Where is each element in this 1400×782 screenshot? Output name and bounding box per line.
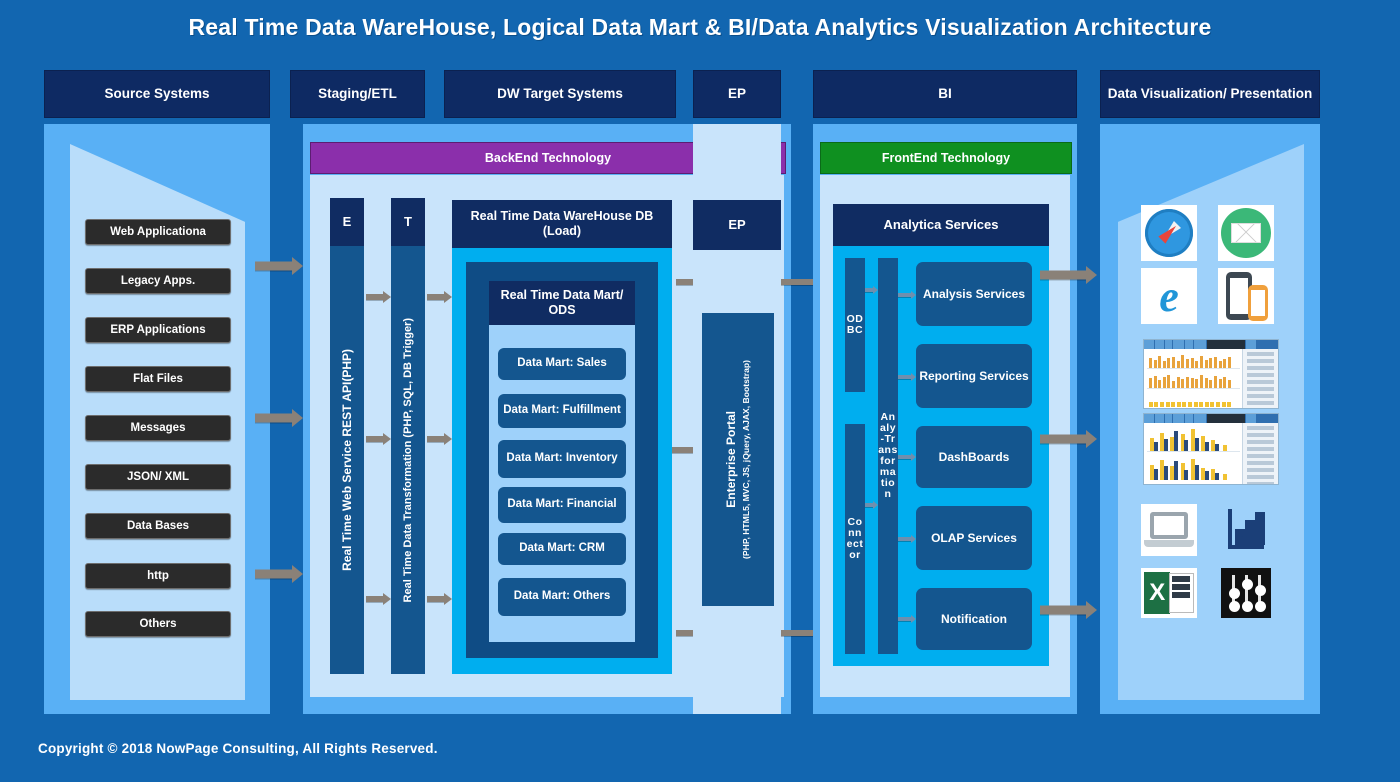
column-header-dw-target-systems: DW Target Systems xyxy=(444,70,676,118)
bi-service-label: Analysis Services xyxy=(923,287,1025,301)
column-header-label: Source Systems xyxy=(104,86,209,102)
source-item-legacy-apps[interactable]: Legacy Apps. xyxy=(85,268,231,294)
arrow-source-to-staging-1 xyxy=(255,257,303,275)
bi-service-notification[interactable]: Notification xyxy=(916,588,1032,650)
source-item-label: JSON/ XML xyxy=(127,471,189,483)
arrow-transform-to-analysis xyxy=(898,290,916,300)
transform-service-block: Real Time Data Transformation (PHP, SQL,… xyxy=(391,246,425,674)
source-item-label: Others xyxy=(139,618,176,630)
column-header-bi: BI xyxy=(813,70,1077,118)
internet-explorer-icon[interactable]: e xyxy=(1141,268,1197,324)
dashboard-report-icon[interactable] xyxy=(1143,339,1279,409)
bi-service-olap-services[interactable]: OLAP Services xyxy=(916,506,1032,570)
source-item-messages[interactable]: Messages xyxy=(85,415,231,441)
dw-header: Real Time Data WareHouse DB (Load) xyxy=(452,200,672,248)
data-mart-ods-header: Real Time Data Mart/ ODS xyxy=(489,281,635,325)
equalizer-icon[interactable] xyxy=(1221,568,1271,618)
column-header-source-systems: Source Systems xyxy=(44,70,270,118)
source-item-data-bases[interactable]: Data Bases xyxy=(85,513,231,539)
data-mart-sales[interactable]: Data Mart: Sales xyxy=(498,348,626,380)
diagram-canvas: Real Time Data WareHouse, Logical Data M… xyxy=(0,0,1400,782)
analytics-services-header: Analytica Services xyxy=(833,204,1049,246)
data-mart-fulfillment[interactable]: Data Mart: Fulfillment xyxy=(498,394,626,428)
ep-header-label: EP xyxy=(728,217,745,233)
arrow-transform-to-reporting xyxy=(898,372,916,382)
extract-service-label: Real Time Web Service REST API(PHP) xyxy=(340,349,354,571)
source-item-label: Web Applicationa xyxy=(110,226,206,238)
transform-code-header: T xyxy=(391,198,425,246)
data-mart-label: Data Mart: Sales xyxy=(517,357,606,371)
data-mart-others[interactable]: Data Mart: Others xyxy=(498,578,626,616)
odbc-connector-block: ODBC xyxy=(845,258,865,392)
source-item-flat-files[interactable]: Flat Files xyxy=(85,366,231,392)
extract-code-header: E xyxy=(330,198,364,246)
enterprise-portal-subtitle: (PHP, HTML5, MVC, JS, jQuery, AJAX, Boot… xyxy=(741,360,751,559)
arrow-transform-to-dw-3 xyxy=(427,592,452,606)
arrow-odbc-to-transform-1 xyxy=(865,285,878,295)
data-mart-label: Data Mart: Fulfillment xyxy=(503,404,621,418)
arrow-bi-to-visualization-3 xyxy=(1040,601,1098,619)
laptop-icon[interactable] xyxy=(1141,504,1197,556)
data-mart-ods-line2: ODS xyxy=(501,303,624,318)
arrow-source-to-staging-2 xyxy=(255,409,303,427)
source-item-label: Messages xyxy=(131,422,186,434)
bi-service-label: OLAP Services xyxy=(931,531,1017,545)
arrow-transform-to-notification xyxy=(898,614,916,624)
column-header-label: EP xyxy=(728,86,746,102)
column-header-label: Data Visualization/ Presentation xyxy=(1108,86,1313,102)
arrow-extract-to-transform-3 xyxy=(366,592,391,606)
frontend-banner-label: FrontEnd Technology xyxy=(882,151,1010,165)
odbc-label: ODBC xyxy=(845,314,865,336)
connector-label: Connector xyxy=(845,517,865,562)
bi-service-label: Reporting Services xyxy=(919,369,1028,383)
arrow-transform-to-olap xyxy=(898,534,916,544)
source-item-others[interactable]: Others xyxy=(85,611,231,637)
data-mart-label: Data Mart: Financial xyxy=(507,498,616,512)
source-item-json-xml[interactable]: JSON/ XML xyxy=(85,464,231,490)
bi-service-reporting-services[interactable]: Reporting Services xyxy=(916,344,1032,408)
source-item-web-applications[interactable]: Web Applicationa xyxy=(85,219,231,245)
arrow-connector-to-transform-1 xyxy=(865,500,878,510)
arrow-extract-to-transform-2 xyxy=(366,432,391,446)
bar-chart-icon[interactable] xyxy=(1221,504,1271,556)
source-item-label: http xyxy=(147,570,169,582)
bi-service-analysis-services[interactable]: Analysis Services xyxy=(916,262,1032,326)
ep-header-block: EP xyxy=(693,200,781,250)
column-header-ep: EP xyxy=(693,70,781,118)
transform-code-label: T xyxy=(404,214,412,230)
data-mart-crm[interactable]: Data Mart: CRM xyxy=(498,533,626,565)
extract-service-block: Real Time Web Service REST API(PHP) xyxy=(330,246,364,674)
arrow-transform-to-dashboards xyxy=(898,452,916,462)
source-item-http[interactable]: http xyxy=(85,563,231,589)
column-header-staging-etl: Staging/ETL xyxy=(290,70,425,118)
bi-service-label: DashBoards xyxy=(939,450,1010,464)
data-mart-inventory[interactable]: Data Mart: Inventory xyxy=(498,440,626,478)
source-item-erp-applications[interactable]: ERP Applications xyxy=(85,317,231,343)
arrow-transform-to-dw-2 xyxy=(427,432,452,446)
data-mart-label: Data Mart: Inventory xyxy=(506,452,617,466)
enterprise-portal-block[interactable]: Enterprise Portal (PHP, HTML5, MVC, JS, … xyxy=(702,313,774,606)
source-item-label: ERP Applications xyxy=(110,324,205,336)
data-mart-label: Data Mart: CRM xyxy=(519,542,605,556)
column-header-label: BI xyxy=(938,86,952,102)
page-title: Real Time Data WareHouse, Logical Data M… xyxy=(0,14,1400,41)
safari-browser-icon[interactable] xyxy=(1141,205,1197,261)
mobile-devices-icon[interactable] xyxy=(1218,268,1274,324)
data-mart-financial[interactable]: Data Mart: Financial xyxy=(498,487,626,523)
trend-arrow-icon xyxy=(1221,504,1271,556)
source-item-label: Data Bases xyxy=(127,520,189,532)
data-mart-ods-line1: Real Time Data Mart/ xyxy=(501,288,624,303)
column-header-label: Staging/ETL xyxy=(318,86,397,102)
dw-header-line1: Real Time Data WareHouse DB xyxy=(471,209,654,224)
frontend-technology-banner: FrontEnd Technology xyxy=(820,142,1072,174)
column-header-data-visualization: Data Visualization/ Presentation xyxy=(1100,70,1320,118)
arrow-source-to-staging-3 xyxy=(255,565,303,583)
copyright-footer: Copyright © 2018 NowPage Consulting, All… xyxy=(38,741,438,756)
backend-banner-label: BackEnd Technology xyxy=(485,151,611,165)
source-item-label: Legacy Apps. xyxy=(121,275,195,287)
excel-icon[interactable]: X xyxy=(1141,568,1197,618)
bi-service-dashboards[interactable]: DashBoards xyxy=(916,426,1032,488)
data-mart-label: Data Mart: Others xyxy=(514,590,611,604)
dw-header-line2: (Load) xyxy=(471,224,654,239)
arrow-extract-to-transform-1 xyxy=(366,290,391,304)
email-icon[interactable] xyxy=(1218,205,1274,261)
column-header-label: DW Target Systems xyxy=(497,86,623,102)
arrow-transform-to-dw-1 xyxy=(427,290,452,304)
analytics-transformation-label: Analy-Transformation xyxy=(878,412,898,501)
arrow-bi-to-visualization-2 xyxy=(1040,430,1098,448)
analytics-transformation-block: Analy-Transformation xyxy=(878,258,898,654)
source-item-label: Flat Files xyxy=(133,373,183,385)
phone-icon xyxy=(1248,285,1268,321)
bi-service-label: Notification xyxy=(941,612,1007,626)
connector-block: Connector xyxy=(845,424,865,654)
enterprise-portal-title-text: Enterprise Portal xyxy=(724,411,738,508)
transform-service-label: Real Time Data Transformation (PHP, SQL,… xyxy=(402,318,414,602)
enterprise-portal-subtitle-text: (PHP, HTML5, MVC, JS, jQuery, AJAX, Boot… xyxy=(741,360,751,559)
enterprise-portal-title: Enterprise Portal xyxy=(725,411,739,508)
arrow-bi-to-visualization-1 xyxy=(1040,266,1098,284)
analytics-services-header-label: Analytica Services xyxy=(884,217,999,233)
dashboard-report-icon-2[interactable] xyxy=(1143,413,1279,485)
extract-code-label: E xyxy=(343,214,352,230)
